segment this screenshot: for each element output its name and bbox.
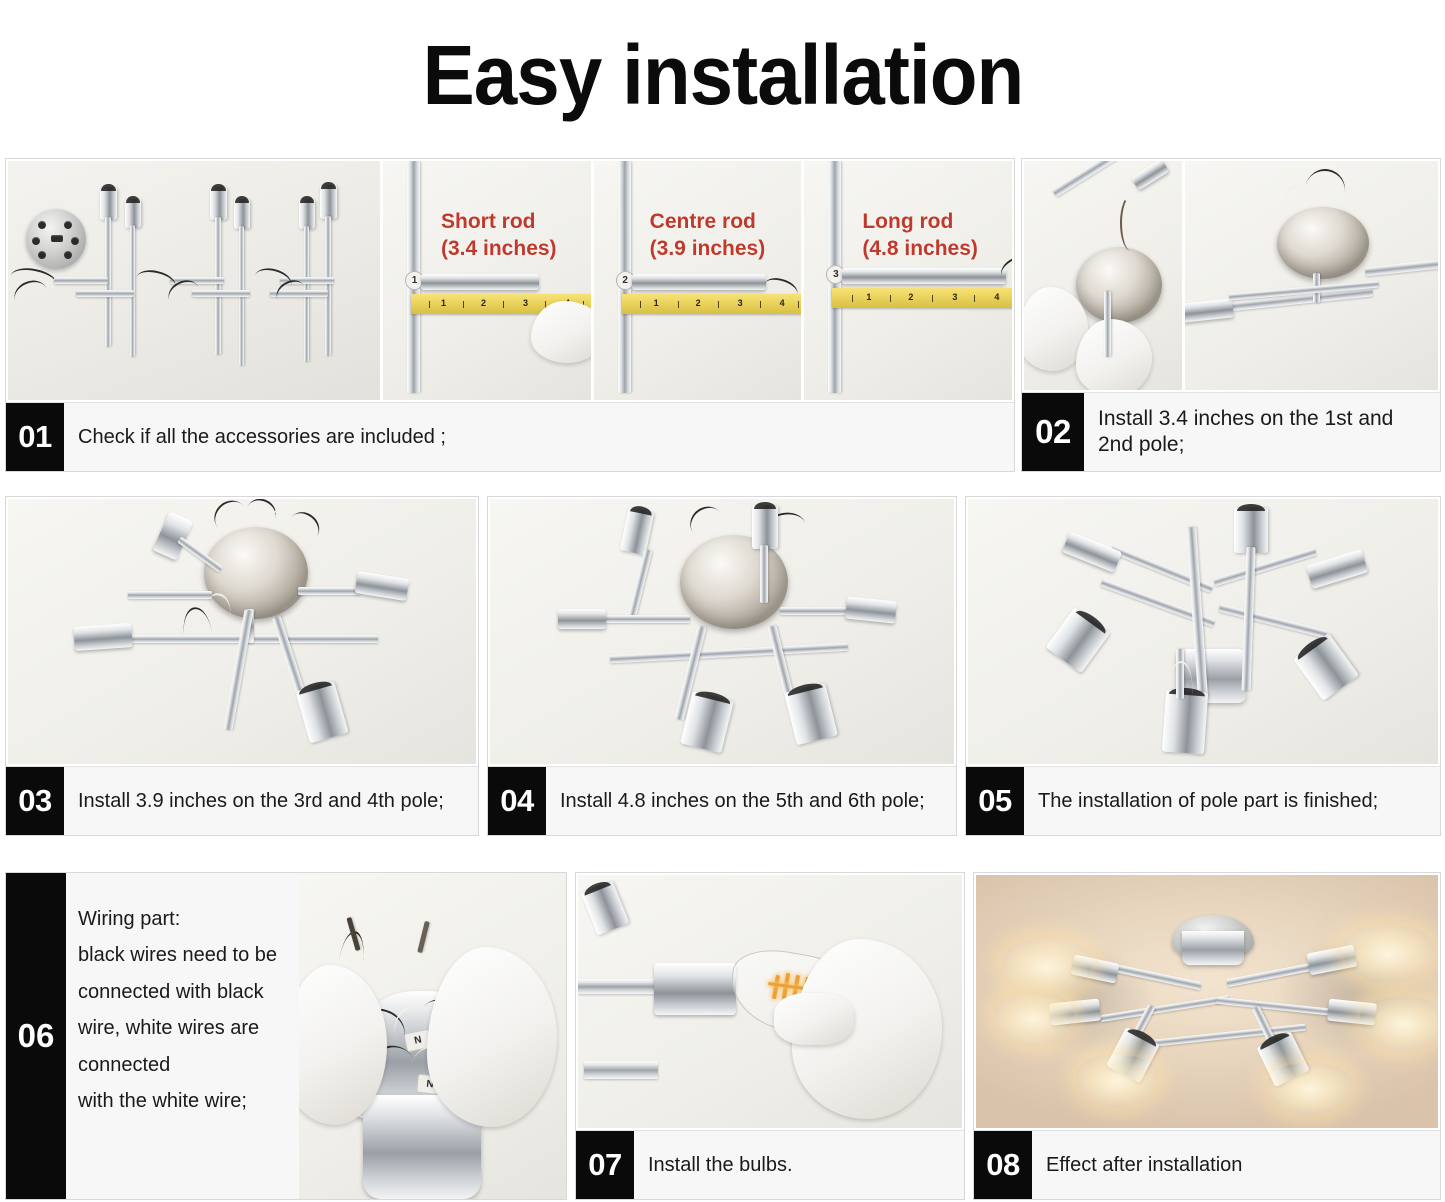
step-07-caption: 07 Install the bulbs. [576, 1130, 964, 1199]
photo-accessories-layout [8, 161, 380, 400]
socket-left-lower-03 [73, 623, 133, 651]
photo-long-rod-measure: Long rod (4.8 inches) 3 1 2 3 4 5 [804, 161, 1012, 400]
step-text-06: Wiring part: black wires need to be conn… [66, 873, 299, 1199]
loose-arm-07 [584, 1061, 658, 1079]
photo-four-rods [8, 499, 476, 764]
socket-w-04 [558, 609, 606, 629]
socket-long [842, 268, 1006, 284]
centre-rod-label: Centre rod (3.9 inches) [650, 209, 766, 263]
short-rod-label: Short rod (3.4 inches) [441, 209, 557, 263]
step-02-caption: 02 Install 3.4 inches on the 1st and 2nd… [1022, 392, 1440, 471]
page-title: Easy installation [422, 33, 1023, 117]
step-text-01: Check if all the accessories are include… [64, 403, 1014, 471]
measuring-tape-long: 1 2 3 4 5 [832, 288, 1012, 308]
canopy-02a [1076, 247, 1162, 323]
step-01-caption: 01 Check if all the accessories are incl… [6, 402, 1014, 471]
page-header: Easy installation [0, 0, 1445, 150]
step-03-caption: 03 Install 3.9 inches on the 3rd and 4th… [6, 766, 478, 835]
socket-short [421, 274, 539, 290]
socket-centre [632, 274, 766, 290]
canopy-04 [680, 535, 788, 629]
photo-short-rod-measure: Short rod (3.4 inches) 1 1 2 3 4 [383, 161, 591, 400]
step-07-photos [576, 873, 964, 1130]
steps-row-2: 03 Install 3.9 inches on the 3rd and 4th… [5, 496, 1441, 836]
step-card-07[interactable]: 07 Install the bulbs. [575, 872, 965, 1200]
step-04-caption: 04 Install 4.8 inches on the 5th and 6th… [488, 766, 956, 835]
step-text-08: Effect after installation [1032, 1131, 1440, 1199]
canopy-02b [1277, 207, 1369, 279]
photo-attach-first-rod [1024, 161, 1182, 390]
step-number-04: 04 [488, 767, 546, 835]
photo-six-rods [490, 499, 954, 764]
step-card-06[interactable]: 06 Wiring part: black wires need to be c… [5, 872, 567, 1200]
step-04-photos [488, 497, 956, 766]
socket-ne-04 [752, 505, 778, 549]
step-card-08[interactable]: 08 Effect after installation [973, 872, 1441, 1200]
bulb-socket-07 [654, 963, 736, 1015]
step-card-05[interactable]: 05 The installation of pole part is fini… [965, 496, 1441, 836]
step-number-07: 07 [576, 1131, 634, 1199]
step-text-02: Install 3.4 inches on the 1st and 2nd po… [1084, 393, 1440, 471]
step-number-03: 03 [6, 767, 64, 835]
step-03-photos [6, 497, 478, 766]
step-number-08: 08 [974, 1131, 1032, 1199]
rod-right-upper-03 [298, 587, 360, 595]
step-08-caption: 08 Effect after installation [974, 1130, 1440, 1199]
step-05-caption: 05 The installation of pole part is fini… [966, 766, 1440, 835]
step-card-03[interactable]: 03 Install 3.9 inches on the 3rd and 4th… [5, 496, 479, 836]
photo-two-rods-installed [1185, 161, 1438, 390]
step-02-photos [1022, 159, 1440, 392]
photo-effect-after-installation [976, 875, 1438, 1128]
step-01-photos: Short rod (3.4 inches) 1 1 2 3 4 Centre … [6, 159, 1014, 402]
step-number-02: 02 [1022, 393, 1084, 471]
photo-wiring: N N [299, 873, 566, 1199]
step-number-01: 01 [6, 403, 64, 471]
steps-row-1: Short rod (3.4 inches) 1 1 2 3 4 Centre … [5, 158, 1441, 472]
step-05-photos [966, 497, 1440, 766]
step-text-07: Install the bulbs. [634, 1131, 964, 1199]
photo-centre-rod-measure: Centre rod (3.9 inches) 2 1 2 3 4 [594, 161, 802, 400]
step-08-photos [974, 873, 1440, 1130]
steps-row-3: 06 Wiring part: black wires need to be c… [5, 872, 1441, 1200]
mounting-plate [26, 209, 86, 269]
step-card-01[interactable]: Short rod (3.4 inches) 1 1 2 3 4 Centre … [5, 158, 1015, 472]
step-text-03: Install 3.9 inches on the 3rd and 4th po… [64, 767, 478, 835]
step-number-05: 05 [966, 767, 1024, 835]
photo-frame-finished [968, 499, 1438, 764]
step-text-04: Install 4.8 inches on the 5th and 6th po… [546, 767, 956, 835]
long-rod-label: Long rod (4.8 inches) [862, 209, 978, 263]
step-text-05: The installation of pole part is finishe… [1024, 767, 1440, 835]
rod-left-upper-03 [128, 591, 212, 599]
step-card-04[interactable]: 04 Install 4.8 inches on the 5th and 6th… [487, 496, 957, 836]
rod-w-04 [600, 615, 690, 623]
step-number-06: 06 [6, 873, 66, 1199]
photo-install-bulb [578, 875, 962, 1128]
step-card-02[interactable]: 02 Install 3.4 inches on the 1st and 2nd… [1021, 158, 1441, 472]
